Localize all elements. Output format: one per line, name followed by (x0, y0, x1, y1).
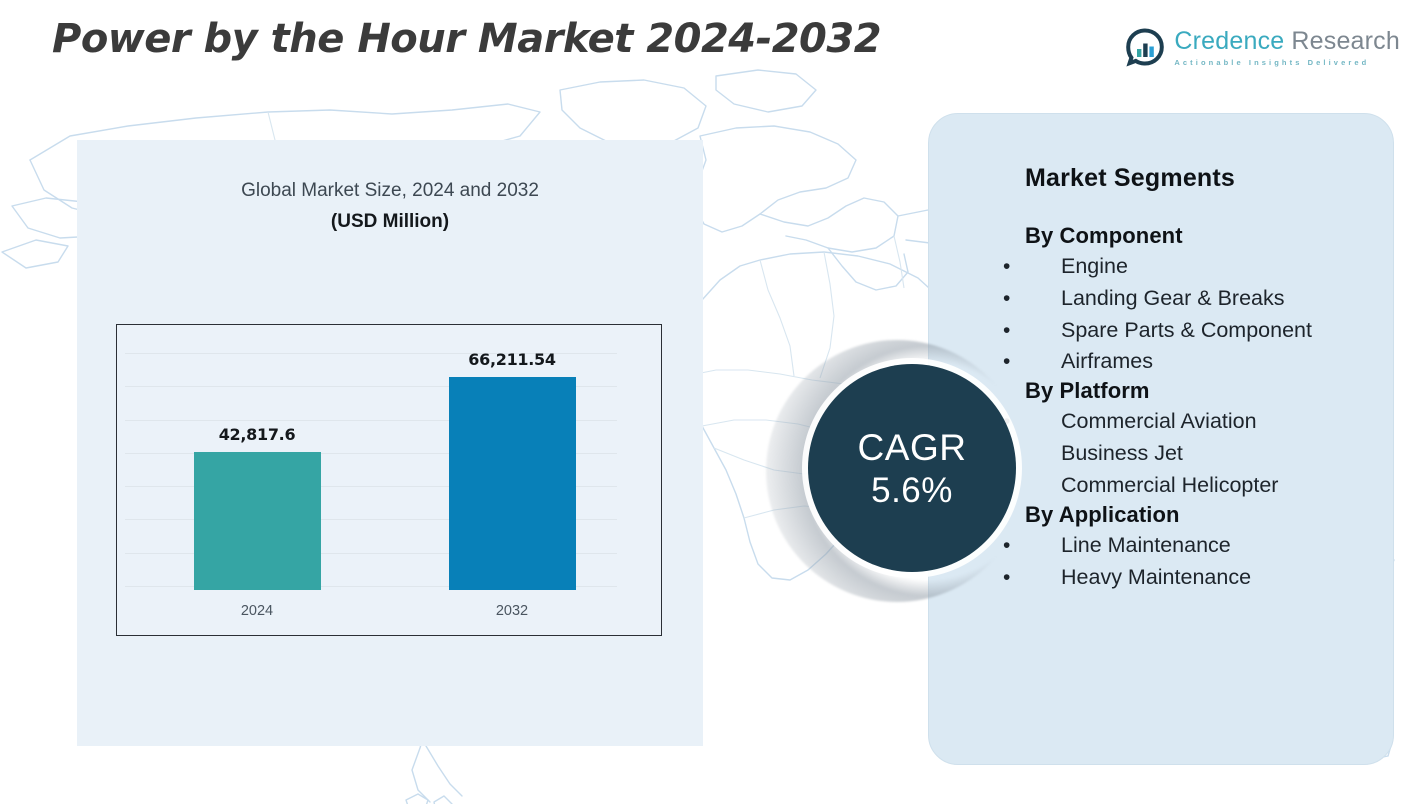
segment-item-list: •Line Maintenance•Heavy Maintenance (1025, 530, 1393, 594)
chart-bar[interactable] (449, 377, 576, 590)
segment-group: By Application•Line Maintenance•Heavy Ma… (1025, 502, 1393, 594)
segment-item-label: Heavy Maintenance (1061, 565, 1251, 589)
segment-item-label: Commercial Aviation (1061, 409, 1257, 433)
brand-tagline: Actionable Insights Delivered (1174, 59, 1400, 67)
brand-name-secondary: Research (1291, 29, 1400, 54)
segment-group-heading: By Platform (1025, 378, 1393, 404)
chart-category-label: 2032 (442, 603, 582, 619)
segment-item[interactable]: •Commercial Helicopter (1025, 470, 1393, 502)
segment-item-label: Business Jet (1061, 441, 1183, 465)
segment-item-label: Line Maintenance (1061, 533, 1231, 557)
segment-item-list: •Commercial Aviation•Business Jet•Commer… (1025, 406, 1393, 501)
segment-item[interactable]: •Engine (1025, 251, 1393, 283)
brand-logo: Credence Research Actionable Insights De… (1125, 28, 1400, 68)
chart-plot-area: 42,817.6202466,211.542032 (117, 325, 661, 635)
segment-item-label: Landing Gear & Breaks (1061, 286, 1285, 310)
cagr-value: 5.6% (871, 473, 953, 508)
chart-caption-line1: Global Market Size, 2024 and 2032 (77, 180, 703, 202)
infographic-canvas: Power by the Hour Market 2024-2032 Crede… (0, 0, 1428, 804)
market-segments-list: By Component•Engine•Landing Gear & Break… (1025, 223, 1393, 593)
market-segments-title: Market Segments (1025, 164, 1393, 193)
chart-caption-line2: (USD Million) (77, 211, 703, 233)
segment-group: By Component•Engine•Landing Gear & Break… (1025, 223, 1393, 378)
segment-group: By Platform•Commercial Aviation•Business… (1025, 378, 1393, 501)
chart-bar-value-label: 42,817.6 (147, 425, 367, 444)
brand-logo-text: Credence Research Actionable Insights De… (1174, 29, 1400, 67)
segment-item-label: Airframes (1061, 349, 1153, 373)
segment-item[interactable]: •Commercial Aviation (1025, 406, 1393, 438)
cagr-circle: CAGR 5.6% (808, 364, 1016, 572)
brand-name-primary: Credence (1174, 29, 1284, 54)
segment-item-label: Engine (1061, 254, 1128, 278)
cagr-label: CAGR (858, 429, 967, 466)
segment-item[interactable]: •Business Jet (1025, 438, 1393, 470)
segment-item[interactable]: •Spare Parts & Component (1025, 315, 1393, 347)
segment-item-label: Commercial Helicopter (1061, 473, 1278, 497)
segment-group-heading: By Application (1025, 502, 1393, 528)
segment-item[interactable]: •Heavy Maintenance (1025, 562, 1393, 594)
chart-bar[interactable] (194, 452, 321, 590)
segment-group-heading: By Component (1025, 223, 1393, 249)
segment-item[interactable]: •Airframes (1025, 346, 1393, 378)
segment-item-list: •Engine•Landing Gear & Breaks•Spare Part… (1025, 251, 1393, 378)
chart-category-label: 2024 (187, 603, 327, 619)
chart-caption: Global Market Size, 2024 and 2032 (USD M… (77, 180, 703, 233)
segment-item[interactable]: •Landing Gear & Breaks (1025, 283, 1393, 315)
bar-chart: 42,817.6202466,211.542032 (116, 324, 662, 636)
cagr-badge: CAGR 5.6% (766, 340, 1028, 602)
segment-item-label: Spare Parts & Component (1061, 318, 1312, 342)
bar-chart-bubble-logo-icon (1125, 28, 1165, 68)
segment-item[interactable]: •Line Maintenance (1025, 530, 1393, 562)
chart-bar-value-label: 66,211.54 (402, 350, 622, 369)
page-title: Power by the Hour Market 2024-2032 (52, 16, 881, 62)
